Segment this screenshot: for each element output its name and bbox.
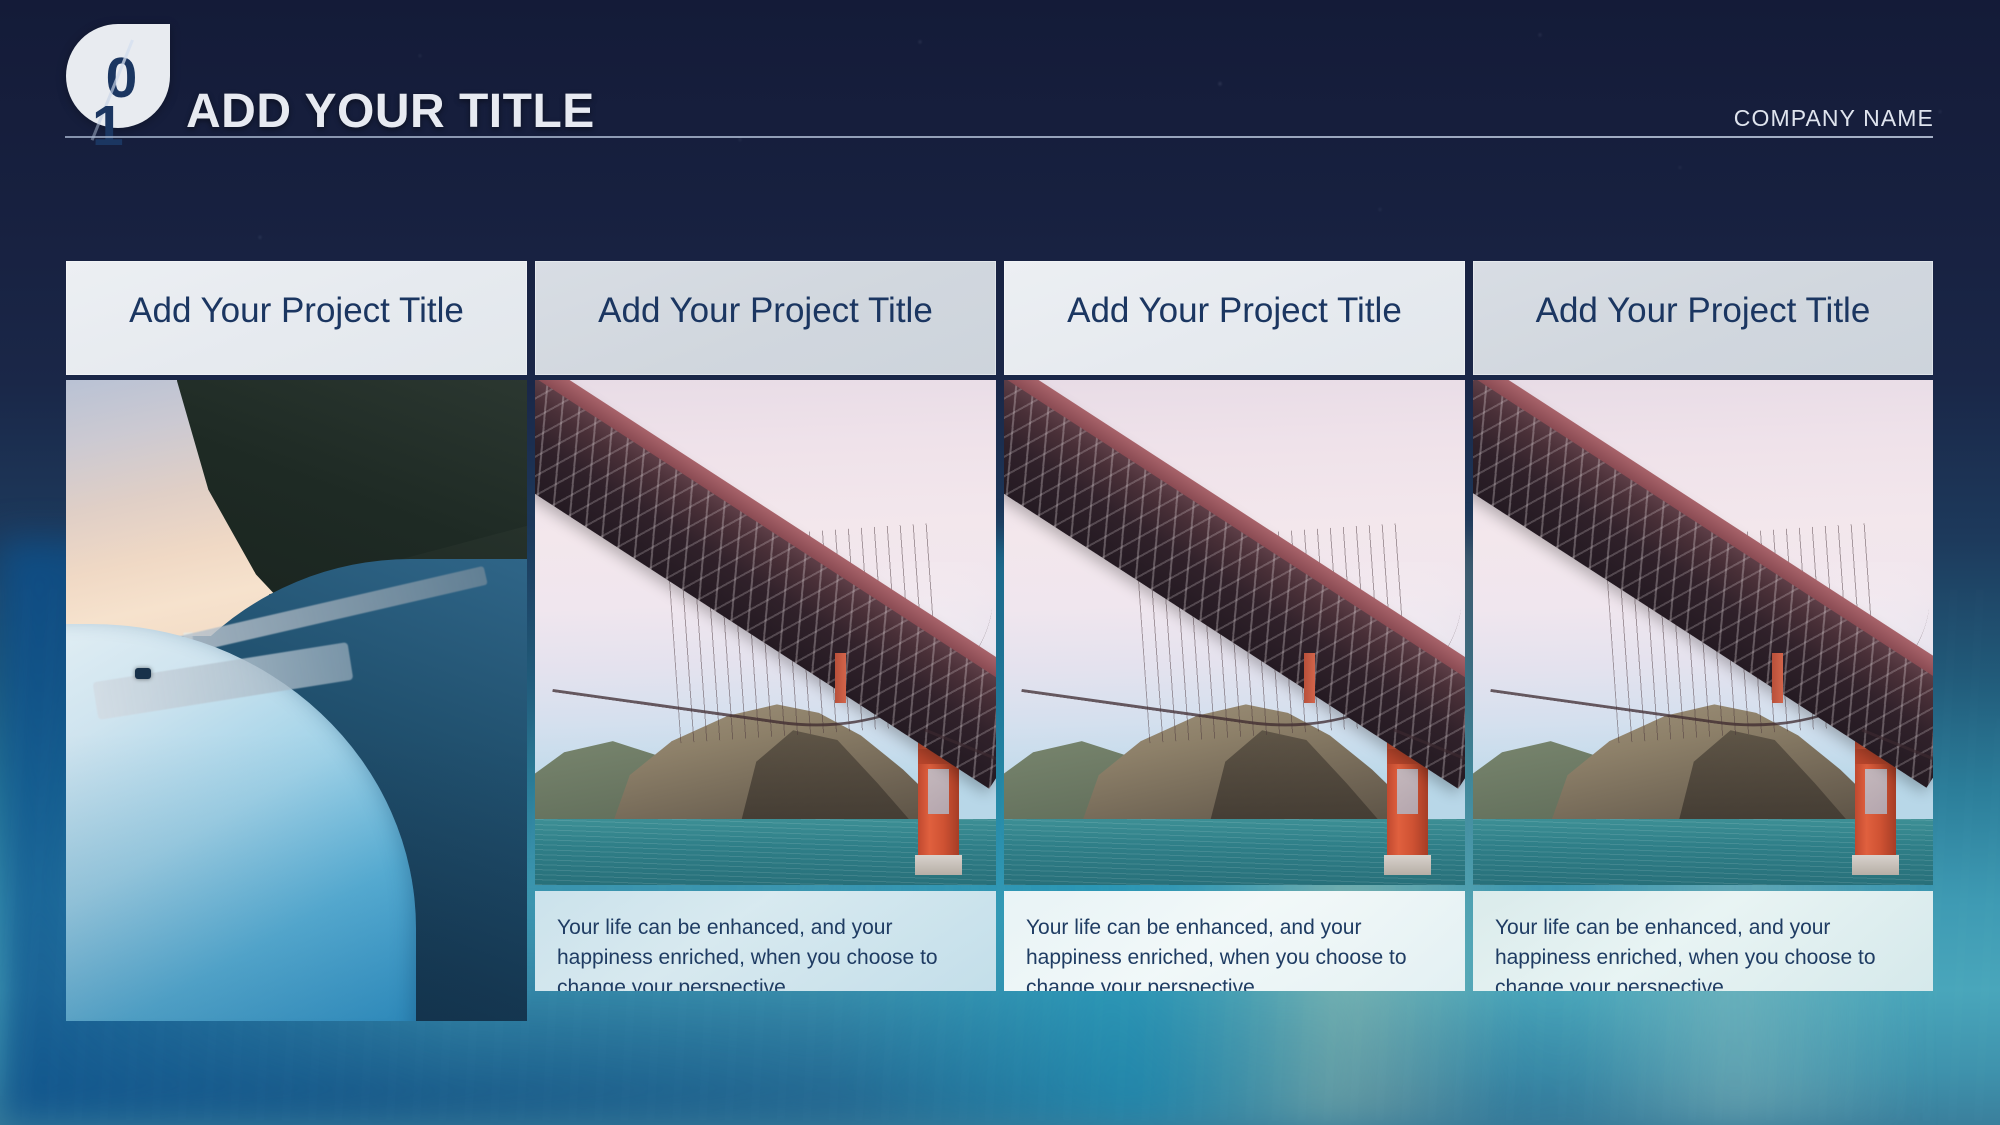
bridge-photo-tower-base xyxy=(1852,855,1899,875)
golden-gate-bridge-photo xyxy=(1004,380,1465,885)
page-title: ADD YOUR TITLE xyxy=(186,84,595,139)
card-1-image xyxy=(66,380,527,1021)
project-card-4[interactable]: Add Your Project Title xyxy=(1473,261,1933,1021)
road-photo-vignette xyxy=(66,380,527,1021)
bridge-photo-tower-opening-lower xyxy=(1397,769,1418,814)
card-4-image xyxy=(1473,380,1933,885)
presentation-slide: 0 1 ADD YOUR TITLE COMPANY NAME Add Your… xyxy=(0,0,2000,1125)
bridge-photo-tower-base xyxy=(915,855,962,875)
golden-gate-bridge-photo xyxy=(535,380,996,885)
bridge-photo-pillar xyxy=(835,653,846,704)
card-2-heading: Add Your Project Title xyxy=(549,289,982,334)
slide-header: 0 1 ADD YOUR TITLE COMPANY NAME xyxy=(0,0,2000,200)
card-3-caption: Your life can be enhanced, and your happ… xyxy=(1004,891,1465,991)
bridge-photo-tower-base xyxy=(1384,855,1431,875)
card-2-header: Add Your Project Title xyxy=(535,261,996,375)
golden-gate-bridge-photo xyxy=(1473,380,1933,885)
project-card-2[interactable]: Add Your Project Title xyxy=(535,261,996,1021)
bridge-photo-pillar xyxy=(1772,653,1783,704)
card-3-image xyxy=(1004,380,1465,885)
card-2-caption: Your life can be enhanced, and your happ… xyxy=(535,891,996,991)
card-1-header: Add Your Project Title xyxy=(66,261,527,375)
card-2-image xyxy=(535,380,996,885)
company-name-label: COMPANY NAME xyxy=(1734,105,1934,132)
project-card-grid: Add Your Project Title xyxy=(66,261,1933,1021)
card-3-body-text: Your life can be enhanced, and your happ… xyxy=(1026,913,1445,991)
bridge-photo-tower-opening-lower xyxy=(928,769,949,814)
bridge-photo-pillar xyxy=(1304,653,1315,704)
card-4-header: Add Your Project Title xyxy=(1473,261,1933,375)
card-3-header: Add Your Project Title xyxy=(1004,261,1465,375)
card-1-heading: Add Your Project Title xyxy=(80,289,513,334)
project-card-3[interactable]: Add Your Project Title xyxy=(1004,261,1465,1021)
card-4-caption: Your life can be enhanced, and your happ… xyxy=(1473,891,1933,991)
bridge-photo-tower-opening-lower xyxy=(1865,769,1886,814)
logo-digit-one: 1 xyxy=(92,98,124,155)
mountain-road-at-dusk-photo xyxy=(66,380,527,1021)
project-card-1[interactable]: Add Your Project Title xyxy=(66,261,527,1021)
card-4-heading: Add Your Project Title xyxy=(1487,289,1919,334)
card-2-body-text: Your life can be enhanced, and your happ… xyxy=(557,913,976,991)
card-4-body-text: Your life can be enhanced, and your happ… xyxy=(1495,913,1913,991)
header-divider xyxy=(65,136,1933,138)
card-3-heading: Add Your Project Title xyxy=(1018,289,1451,334)
